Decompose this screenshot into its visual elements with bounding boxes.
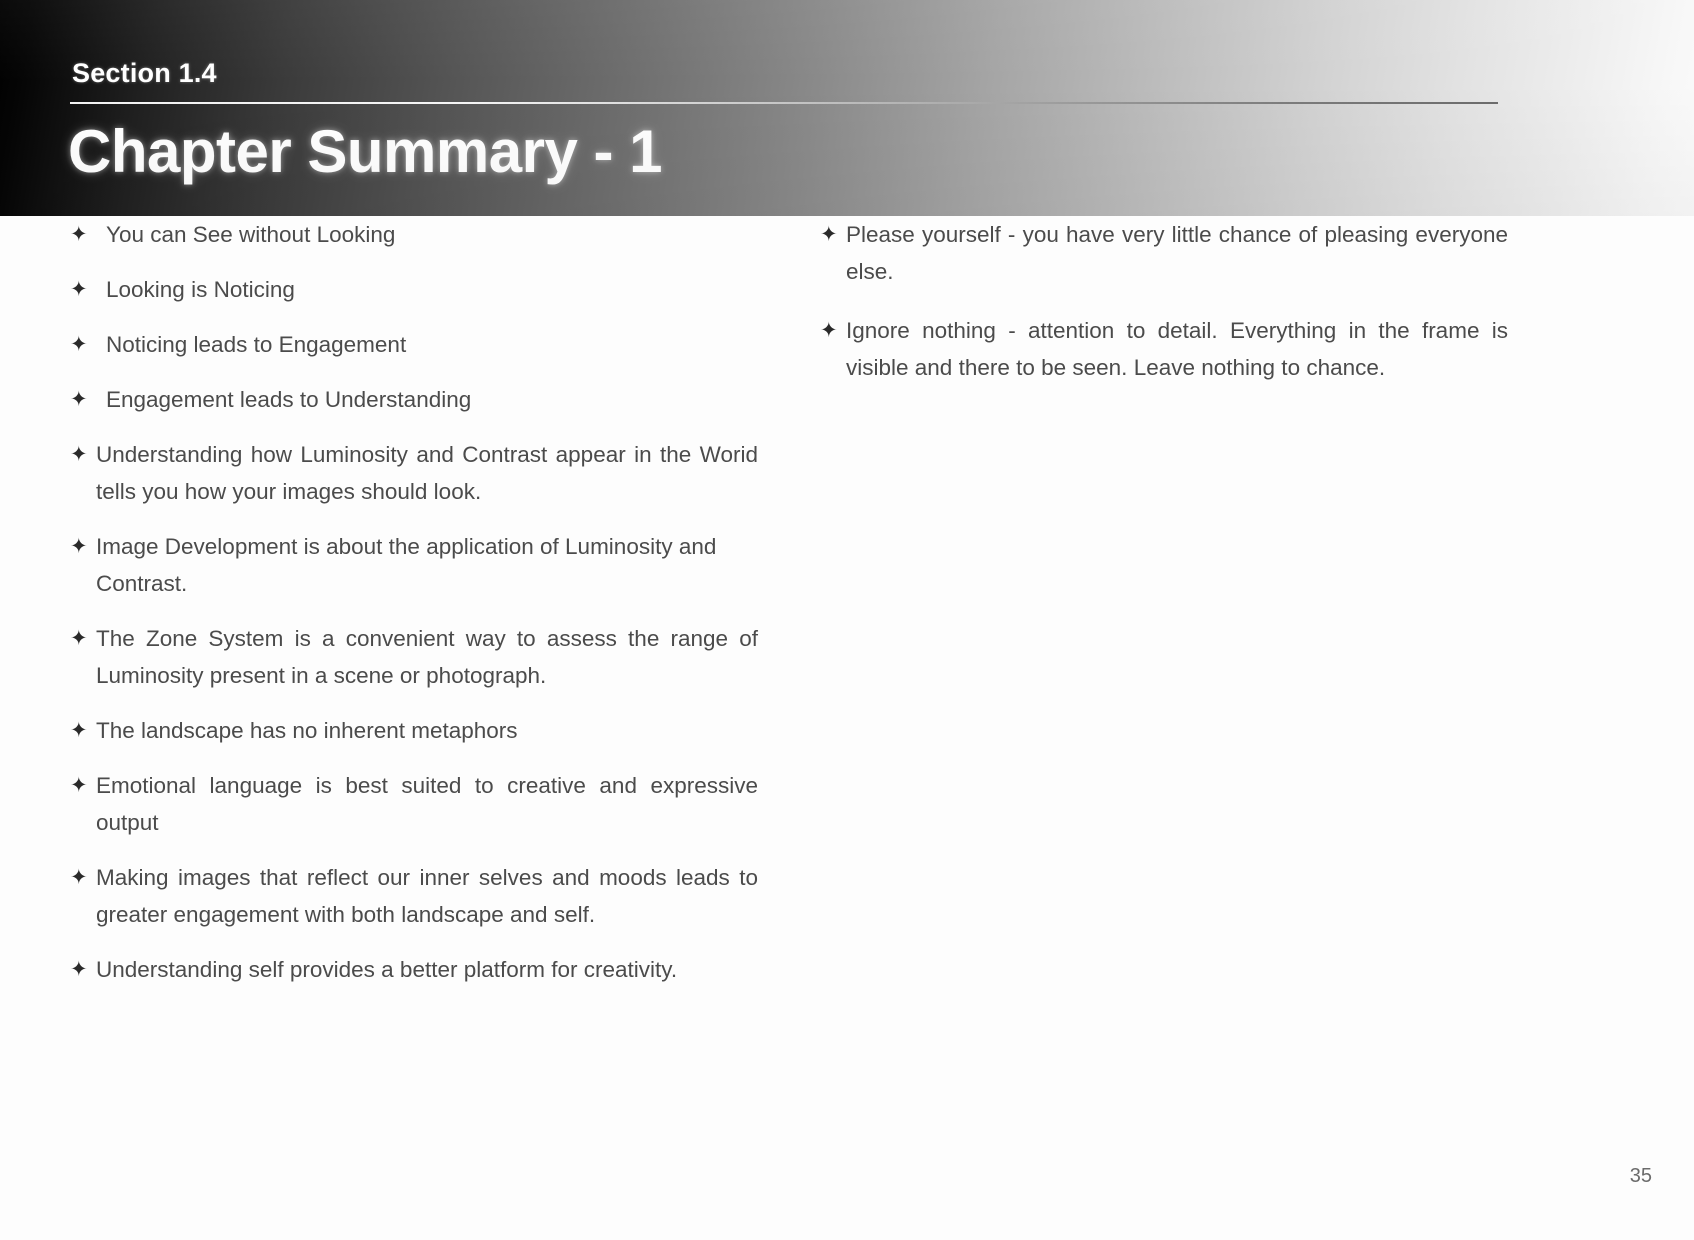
four-point-star-icon: ✦ (70, 326, 88, 363)
right-bullet-list: ✦Please yourself - you have very little … (818, 216, 1508, 386)
list-item: ✦The Zone System is a convenient way to … (68, 620, 758, 694)
list-item: ✦Emotional language is best suited to cr… (68, 767, 758, 841)
section-label: Section 1.4 (72, 58, 217, 89)
list-item: ✦You can See without Looking (68, 216, 758, 253)
list-item-label: Understanding self provides a better pla… (96, 951, 758, 988)
list-item-label: Looking is Noticing (106, 271, 758, 308)
page-number: 35 (1630, 1165, 1652, 1188)
list-item-label: Image Development is about the applicati… (96, 528, 758, 602)
list-item-label: The Zone System is a convenient way to a… (96, 620, 758, 694)
list-item: ✦Noticing leads to Engagement (68, 326, 758, 363)
left-bullet-list: ✦You can See without Looking✦Looking is … (68, 216, 758, 988)
four-point-star-icon: ✦ (820, 216, 838, 253)
header-banner: Section 1.4 Chapter Summary - 1 (0, 0, 1694, 216)
four-point-star-icon: ✦ (70, 436, 88, 473)
four-point-star-icon: ✦ (70, 767, 88, 804)
list-item: ✦Understanding how Luminosity and Contra… (68, 436, 758, 510)
slide-content: ✦You can See without Looking✦Looking is … (0, 216, 1694, 1240)
left-column: ✦You can See without Looking✦Looking is … (68, 216, 758, 1006)
four-point-star-icon: ✦ (70, 951, 88, 988)
list-item: ✦Looking is Noticing (68, 271, 758, 308)
list-item-label: Engagement leads to Understanding (106, 381, 758, 418)
list-item: ✦Engagement leads to Understanding (68, 381, 758, 418)
list-item: ✦Understanding self provides a better pl… (68, 951, 758, 988)
list-item: ✦The landscape has no inherent metaphors (68, 712, 758, 749)
four-point-star-icon: ✦ (70, 381, 88, 418)
four-point-star-icon: ✦ (70, 620, 88, 657)
list-item-label: Please yourself - you have very little c… (846, 216, 1508, 290)
list-item-label: Understanding how Luminosity and Contras… (96, 436, 758, 510)
four-point-star-icon: ✦ (70, 528, 88, 565)
list-item: ✦Making images that reflect our inner se… (68, 859, 758, 933)
list-item-label: The landscape has no inherent metaphors (96, 712, 758, 749)
four-point-star-icon: ✦ (70, 859, 88, 896)
list-item: ✦Image Development is about the applicat… (68, 528, 758, 602)
page-title: Chapter Summary - 1 (68, 117, 662, 186)
four-point-star-icon: ✦ (70, 271, 88, 308)
right-column: ✦Please yourself - you have very little … (818, 216, 1508, 408)
four-point-star-icon: ✦ (70, 216, 88, 253)
list-item: ✦Ignore nothing - attention to detail. E… (818, 312, 1508, 386)
list-item-label: Noticing leads to Engagement (106, 326, 758, 363)
four-point-star-icon: ✦ (70, 712, 88, 749)
list-item-label: You can See without Looking (106, 216, 758, 253)
header-divider-rule (70, 102, 1498, 104)
list-item-label: Emotional language is best suited to cre… (96, 767, 758, 841)
four-point-star-icon: ✦ (820, 312, 838, 349)
list-item: ✦Please yourself - you have very little … (818, 216, 1508, 290)
list-item-label: Ignore nothing - attention to detail. Ev… (846, 312, 1508, 386)
list-item-label: Making images that reflect our inner sel… (96, 859, 758, 933)
